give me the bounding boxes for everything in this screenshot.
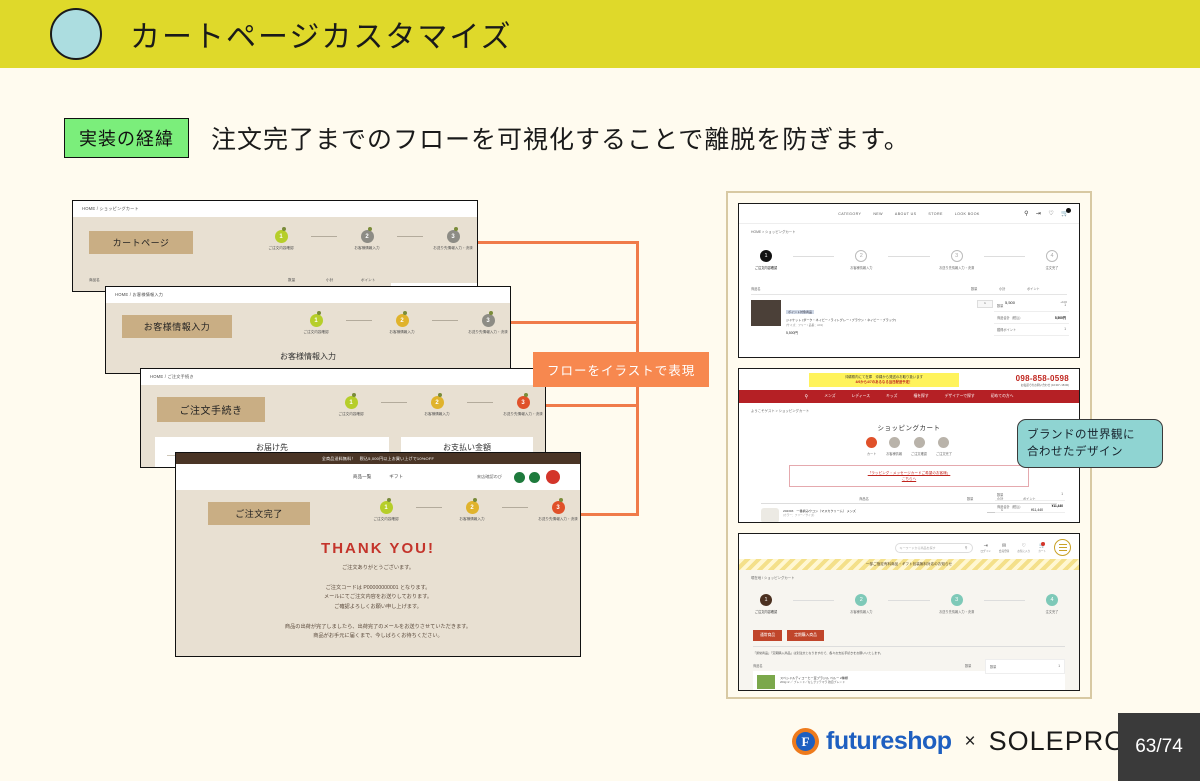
step-dot-icon: 2	[466, 501, 479, 514]
favorites-button[interactable]: ♡ お気に入り	[1017, 543, 1030, 553]
step-label: ご注文確認	[911, 451, 927, 456]
step-3: 3 お送り先情報入力・決済	[458, 314, 511, 335]
right-mockup-green-foods: キーワードから商品を探す ⚲ ⇥ ログイン ✉ 会員登録 ♡ お気に入り 🛒	[738, 533, 1080, 691]
step-dot-icon: 3	[447, 230, 460, 243]
col-name: 商品名	[761, 496, 967, 501]
thanks-line-5: 商品の出荷が完了しましたら、出荷完了のメールをお送りさせていただきます。	[176, 623, 580, 633]
product-thumbnail	[751, 300, 781, 326]
step-connector	[381, 402, 407, 403]
nav-item-store-info[interactable]: 来店確認のび	[477, 474, 502, 480]
step-connector	[346, 320, 372, 321]
mockup-tag-customer: お客様情報入力	[122, 315, 232, 338]
step-1: 1 ご注文内容確認	[356, 501, 416, 522]
mockup-cart-page: HOME / ショッピングカート カートページ 1 ご注文内容確認 2 お客様情…	[72, 200, 478, 292]
table-header-qty: 数量	[288, 278, 295, 283]
step-label: お送り先情報入力・決済	[939, 265, 974, 270]
col-subtotal: 小計	[999, 286, 1027, 291]
step-label: お送り先情報入力・決済	[433, 246, 473, 251]
col-name: 商品名	[753, 663, 965, 668]
step-label: ご注文内容確認	[373, 517, 398, 522]
futureshop-letter: F	[796, 732, 815, 751]
breadcrumb: HOME / ショッピングカート	[73, 201, 477, 217]
step-label: ご注文内容確認	[755, 609, 777, 614]
nav-item-products[interactable]: 商品一覧	[353, 474, 371, 480]
panel-heading: お客様情報入力	[106, 351, 510, 362]
step-dot-icon: 1	[760, 250, 772, 262]
step-4: 4 注文完了	[1025, 250, 1079, 270]
callout-flow-illustration: フローをイラストで表現	[533, 352, 709, 387]
hamburger-menu-icon[interactable]	[1054, 539, 1071, 556]
futureshop-mark-icon: F	[792, 728, 819, 755]
step-dot-icon: 4	[1046, 594, 1058, 606]
step-label: 注文完了	[1046, 609, 1059, 614]
callout-brand-design: ブランドの世界観に 合わせたデザイン	[1017, 419, 1163, 468]
step-label: お客様情報	[886, 451, 902, 456]
step-dot-icon: 4	[1046, 250, 1058, 262]
step-dot-icon: 1	[310, 314, 323, 327]
nav-kids[interactable]: キッズ	[886, 394, 897, 399]
step-dot-icon: 1	[760, 594, 772, 606]
step-connector	[984, 600, 1025, 601]
mockup-tag-complete: ご注文完了	[208, 502, 310, 525]
breadcrumb: 現在地 / ショッピングカート	[739, 570, 1079, 580]
login-label: ログイン	[981, 549, 991, 553]
summary-label-total: 商品合計（税込）	[997, 315, 1023, 320]
phone-note: お電話でのお問い合わせ (10:00〜18:00)	[1016, 383, 1069, 387]
promo-stripe: 一部ご指定有料商品・ギフト包装無料対応のお知らせ	[739, 559, 1079, 570]
category-navbar: ⚲ メンズ レディース キッズ 福を探す デザイナーで探す 初めての方へ	[739, 390, 1079, 403]
breadcrumb: HOME > ショッピングカート	[739, 224, 1079, 234]
shop-header: 沖縄県内にて在庫 沖縄から発送のお取り扱います 4/6から4/7のあるなる当日配…	[739, 369, 1079, 390]
search-icon[interactable]: ⚲	[965, 545, 968, 550]
nav-store[interactable]: STORE	[928, 212, 942, 216]
search-icon[interactable]: ⚲	[1024, 210, 1029, 217]
nav-lookbook[interactable]: LOOK BOOK	[955, 212, 980, 216]
step-1: カート	[866, 437, 877, 456]
product-sub: (カラー：フリー／サイズ)	[783, 513, 987, 517]
mockup-order-complete: 全商品送料無料！ 税込5,000円以上お買い上げで10%OFF 商品一覧 ギフト…	[175, 452, 581, 657]
step-1: 1 ご注文内容確認	[286, 314, 346, 335]
summary-value-total: 5,500円	[1055, 315, 1066, 320]
col-name: 商品名	[751, 286, 971, 291]
notice-line-2: 4/6から4/7のあるなる当日配送予定！	[809, 380, 959, 385]
nav-search-by[interactable]: 福を探す	[913, 394, 928, 399]
summary-label-qty: 数量	[997, 492, 1003, 497]
step-dot-icon: 3	[552, 501, 565, 514]
right-mockup-minimal: CATEGORY NEW ABOUT US STORE LOOK BOOK ⚲ …	[738, 203, 1080, 358]
step-connector	[984, 256, 1025, 257]
notice-banner: 沖縄県内にて在庫 沖縄から発送のお取り扱います 4/6から4/7のあるなる当日配…	[809, 373, 959, 387]
tab-regular-products[interactable]: 通常商品	[753, 630, 782, 641]
nav-icon-group: ⚲ ⇥ ♡ 🛒	[1024, 210, 1069, 217]
search-input[interactable]: キーワードから商品を探す ⚲	[895, 543, 973, 553]
step-label: お客様情報入力	[850, 265, 872, 270]
step-flow: 1 ご注文内容確認 2 お客様情報入力 3 お送り先情報入力・決済	[321, 396, 546, 417]
step-dot-icon: 2	[396, 314, 409, 327]
summary-value-total: ¥11,440	[1052, 504, 1063, 509]
step-connector	[416, 507, 442, 508]
table-header-subtotal: 小計	[326, 278, 333, 283]
futureshop-name: futureshop	[826, 727, 952, 756]
nav-first-time[interactable]: 初めての方へ	[991, 394, 1014, 399]
tab-subscription-products[interactable]: 定期購入商品	[787, 630, 824, 641]
step-label: ご注文内容確認	[303, 330, 328, 335]
step-label: 注文完了	[1046, 265, 1059, 270]
step-4: 4 注文完了	[1025, 594, 1079, 614]
summary-label-total: 商品合計（税込）	[997, 504, 1023, 509]
cart-button[interactable]: 🛒 カート	[1038, 543, 1046, 553]
product-sub: (サイズ：フリー / 品番：A01)	[786, 323, 977, 327]
thanks-line-4: ご確認よろしくお願い申し上げます。	[176, 603, 580, 613]
step-label: お送り先情報入力・決済	[468, 330, 508, 335]
product-price: 5,500円	[786, 330, 977, 335]
step-connector	[397, 236, 423, 237]
step-2: 2 お客様情報入力	[442, 501, 502, 522]
nav-category[interactable]: CATEGORY	[838, 212, 861, 216]
step-3: 3 お送り先情報入力・決済	[493, 396, 546, 417]
step-label: ご注文内容確認	[268, 246, 293, 251]
step-1: 1 ご注文内容確認	[739, 594, 793, 614]
cart-icon[interactable]	[546, 470, 560, 484]
gift-message-box[interactable]: 「ラッピング・メッセージカードご希望のお客様」 こちらへ	[789, 465, 1029, 487]
step-1: 1 ご注文内容確認	[321, 396, 381, 417]
step-label: ご注文内容確認	[755, 265, 777, 270]
nav-about[interactable]: ABOUT US	[895, 212, 917, 216]
search-icon[interactable]	[529, 472, 540, 483]
futureshop-logo: F futureshop	[792, 727, 952, 756]
table-header-points: ポイント	[361, 278, 375, 283]
step-label: ご注文内容確認	[338, 412, 363, 417]
step-2: 2 お客様情報入力	[337, 230, 397, 251]
summary-label-qty: 数量	[997, 303, 1003, 308]
step-connector	[888, 256, 929, 257]
step-dot-icon: 2	[431, 396, 444, 409]
step-dot-icon: 2	[855, 250, 867, 262]
summary-value-qty: 1	[1061, 492, 1063, 497]
site-nav: CATEGORY NEW ABOUT US STORE LOOK BOOK ⚲ …	[739, 204, 1079, 224]
summary-label: 数量	[990, 664, 996, 669]
step-dot-icon	[914, 437, 925, 448]
step-dot-icon: 2	[361, 230, 374, 243]
cart-type-tabs: 通常商品 定期購入商品	[753, 630, 1079, 641]
summary-label-points: 獲得ポイント	[997, 327, 1016, 332]
step-label: お送り先情報入力・決済	[503, 412, 543, 417]
step-connector	[311, 236, 337, 237]
site-navbar: 商品一覧 ギフト 来店確認のび	[176, 464, 580, 490]
order-summary: 数量 1 商品合計（税込） ¥11,440	[995, 489, 1065, 513]
thank-you-heading: THANK YOU!	[176, 540, 580, 557]
search-placeholder: キーワードから商品を探す	[900, 546, 965, 550]
nav-ladies[interactable]: レディース	[852, 394, 871, 399]
step-3: 3 お送り先情報入力・決済	[930, 250, 984, 270]
thanks-line-1: ご注文ありがとうございます。	[176, 564, 580, 574]
footer-logos: F futureshop × SOLEPRO	[792, 726, 1126, 757]
shop-phone: 098-858-0598 お電話でのお問い合わせ (10:00〜18:00)	[1016, 374, 1069, 387]
thanks-line-3: メールにてご注文内容をお送りしております。	[176, 593, 580, 603]
register-button[interactable]: ✉ 会員登録	[999, 543, 1009, 553]
cart-note: 「通常商品」「定期購入商品」は別注文となりますので、各々お支払手続きをお願いいた…	[753, 646, 1065, 655]
step-dot-icon: 3	[482, 314, 495, 327]
step-dot-icon: 3	[517, 396, 530, 409]
step-dot-icon	[938, 437, 949, 448]
step-label: お客様情報入力	[850, 609, 872, 614]
col-qty: 数量	[967, 496, 997, 501]
gift-line-2: こちらへ	[790, 476, 1028, 482]
step-2: お客様情報	[886, 437, 902, 456]
slide-root: カートページカスタマイズ 実装の経緯 注文完了までのフローを可視化することで離脱…	[0, 0, 1200, 781]
step-2: 2 お客様情報入力	[834, 250, 888, 270]
cart-table-header: 商品名 数量 小計 ポイント	[751, 286, 1067, 295]
step-2: 2 お客様情報入力	[372, 314, 432, 335]
step-label: ご注文完了	[936, 451, 952, 456]
step-connector	[432, 320, 458, 321]
step-2: 2 お客様情報入力	[407, 396, 467, 417]
step-4: ご注文完了	[936, 437, 952, 456]
step-label: お客様情報入力	[459, 517, 484, 522]
account-icon[interactable]	[514, 472, 525, 483]
promo-topbar: 全商品送料無料！ 税込5,000円以上お買い上げで10%OFF	[176, 453, 580, 464]
step-1: 1 ご注文内容確認	[739, 250, 793, 270]
mockup-customer-info: HOME / お客様情報入力 お客様情報入力 1 ご注文内容確認 2 お客様情報…	[105, 286, 511, 374]
register-label: 会員登録	[999, 549, 1009, 553]
login-button[interactable]: ⇥ ログイン	[981, 543, 991, 553]
step-3: 3 お送り先情報入力・決済	[528, 501, 581, 522]
thanks-line-2: ご注文コードは P00000000001 となります。	[176, 584, 580, 594]
cart-row: スペシャルティコーヒー豆ブラジル ペルー 2種類 200g×2 ／ ブレンド／な…	[753, 671, 1065, 691]
step-2: 2 お客様情報入力	[834, 594, 888, 614]
breadcrumb: ようこそゲスト > ショッピングカート	[739, 403, 1079, 413]
product-thumbnail	[761, 508, 779, 523]
step-flow: 1 ご注文内容確認 2 お客様情報入力 3 お送り先情報入力・決済	[286, 314, 511, 335]
nav-mens[interactable]: メンズ	[824, 394, 835, 399]
step-dot-icon: 3	[951, 594, 963, 606]
step-label: カート	[866, 451, 877, 456]
step-dot-icon	[866, 437, 877, 448]
step-connector	[502, 507, 528, 508]
login-icon[interactable]: ⇥	[1036, 210, 1041, 217]
step-3: 3 お送り先情報入力・決済	[423, 230, 478, 251]
nav-new[interactable]: NEW	[873, 212, 883, 216]
left-mockup-stack: HOME / ショッピングカート カートページ 1 ご注文内容確認 2 お客様情…	[0, 0, 720, 781]
order-summary: 数量 1 商品合計（税込） 5,500円 獲得ポイント 1	[994, 300, 1069, 336]
step-3: ご注文確認	[911, 437, 927, 456]
col-qty: 数量	[971, 286, 999, 291]
step-flow: 1 ご注文内容確認 2 お客様情報入力 3 お送り先情報入力・決済	[739, 594, 1079, 614]
step-flow: 1 ご注文内容確認 2 お客様情報入力 3 お送り先情報入力・決済 4 注文完了	[739, 250, 1079, 270]
phone-number: 098-858-0598	[1016, 374, 1069, 383]
cart-badge	[1041, 542, 1045, 546]
nav-item-gift[interactable]: ギフト	[389, 474, 403, 480]
step-dot-icon: 1	[275, 230, 288, 243]
table-header-name: 商品名	[89, 278, 100, 283]
step-connector	[888, 600, 929, 601]
step-connector	[467, 402, 493, 403]
step-dot-icon: 1	[380, 501, 393, 514]
breadcrumb: HOME / お客様情報入力	[106, 287, 510, 303]
breadcrumb: HOME / ご注文手続き	[141, 369, 545, 385]
step-connector	[793, 600, 834, 601]
solepro-name: SOLEPRO	[989, 726, 1127, 757]
callout-brand-line-2: 合わせたデザイン	[1027, 444, 1153, 461]
product-badge: ポイント対象商品	[786, 310, 814, 314]
callout-brand-line-1: ブランドの世界観に	[1027, 427, 1153, 444]
step-dot-icon: 2	[855, 594, 867, 606]
step-label: お客様情報入力	[354, 246, 379, 251]
product-sub: 200g×2 ／ ブレンド／なしグァテマラ 独自ブレンド	[780, 680, 1061, 684]
page-number: 63/74	[1118, 713, 1200, 781]
thank-you-block: THANK YOU! ご注文ありがとうございます。 ご注文コードは P00000…	[176, 540, 580, 642]
cart-icon[interactable]: 🛒	[1061, 210, 1069, 217]
cart-label: カート	[1038, 549, 1046, 553]
step-label: お客様情報入力	[389, 330, 414, 335]
col-points: ポイント	[1027, 286, 1067, 291]
nav-designer[interactable]: デザイナーで探す	[945, 394, 975, 399]
order-summary: 数量 1	[985, 659, 1065, 674]
step-3: 3 お送り先情報入力・決済	[930, 594, 984, 614]
summary-value-qty: 1	[1064, 303, 1066, 308]
mockup-tag-cart: カートページ	[89, 231, 193, 254]
step-flow: 1 ご注文内容確認 2 お客様情報入力 3 お送り先情報入力・決済	[251, 230, 478, 251]
step-dot-icon: 3	[951, 250, 963, 262]
summary-value-points: 1	[1064, 327, 1066, 332]
mockup-tag-procedure: ご注文手続き	[157, 397, 265, 422]
qty-input[interactable]: 1	[977, 300, 993, 308]
step-dot-icon	[889, 437, 900, 448]
heart-icon[interactable]: ♡	[1048, 210, 1054, 217]
utility-header: キーワードから商品を探す ⚲ ⇥ ログイン ✉ 会員登録 ♡ お気に入り 🛒	[739, 534, 1079, 559]
summary-value: 1	[1058, 664, 1060, 669]
product-thumbnail	[757, 675, 775, 689]
step-dot-icon: 1	[345, 396, 358, 409]
step-flow: 1 ご注文内容確認 2 お客様情報入力 3 お送り先情報入力・決済	[356, 501, 581, 522]
logo-separator: ×	[965, 731, 976, 753]
step-label: お客様情報入力	[424, 412, 449, 417]
favorites-label: お気に入り	[1017, 549, 1030, 553]
step-connector	[793, 256, 834, 257]
step-1: 1 ご注文内容確認	[251, 230, 311, 251]
step-label: お送り先情報入力・決済	[939, 609, 974, 614]
step-label: お送り先情報入力・決済	[538, 517, 578, 522]
thanks-line-6: 商品がお手元に届くまで、今しばらくお待ちください。	[176, 632, 580, 642]
search-icon[interactable]: ⚲	[805, 394, 809, 400]
